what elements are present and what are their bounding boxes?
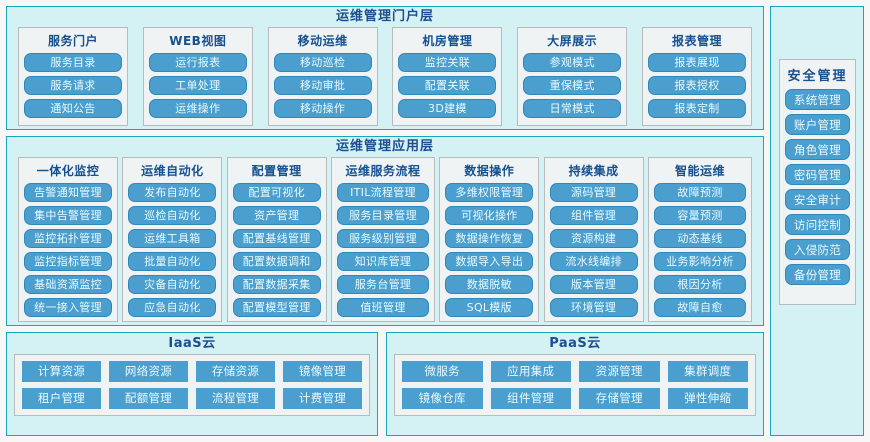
group-security-mgmt: 安全管理 系统管理 账户管理 角色管理 密码管理 安全审计 访问控制 入侵防范 … [779,59,856,305]
button-item[interactable]: 知识库管理 [337,252,429,271]
button-item[interactable]: 租户管理 [22,388,101,409]
button-item[interactable]: 集中告警管理 [24,206,112,225]
button-item[interactable]: ITIL流程管理 [337,183,429,202]
group-buttons: 移动巡检 移动审批 移动操作 [274,53,372,118]
button-item[interactable]: 资产管理 [233,206,321,225]
button-item[interactable]: 通知公告 [24,99,122,118]
button-item[interactable]: 计算资源 [22,361,101,382]
button-item[interactable]: 动态基线 [654,229,746,248]
button-item[interactable]: 流水线编排 [550,252,638,271]
group-title: 持续集成 [569,162,619,179]
button-item[interactable]: 配额管理 [109,388,188,409]
button-item[interactable]: 故障预测 [654,183,746,202]
button-item[interactable]: 服务目录 [24,53,122,72]
button-item[interactable]: 服务目录管理 [337,206,429,225]
button-item[interactable]: 配置关联 [398,76,496,95]
button-item[interactable]: 镜像管理 [283,361,362,382]
button-item[interactable]: 安全审计 [785,189,850,210]
button-item[interactable]: 镜像仓库 [402,388,483,409]
button-item[interactable]: 应急自动化 [128,298,216,317]
group-title: 运维自动化 [141,162,204,179]
button-item[interactable]: 监控指标管理 [24,252,112,271]
button-item[interactable]: 资源构建 [550,229,638,248]
group-mobile-ops: 移动运维 移动巡检 移动审批 移动操作 [268,27,378,126]
group-intelligent-ops: 智能运维 故障预测 容量预测 动态基线 业务影响分析 根因分析 故障自愈 [648,157,752,322]
button-item[interactable]: 版本管理 [550,275,638,294]
button-item[interactable]: 业务影响分析 [654,252,746,271]
button-item[interactable]: 应用集成 [491,361,572,382]
button-item[interactable]: 网络资源 [109,361,188,382]
button-item[interactable]: 监控关联 [398,53,496,72]
button-item[interactable]: 基础资源监控 [24,275,112,294]
layer-portal-title: 运维管理门户层 [7,7,763,27]
button-item[interactable]: 访问控制 [785,214,850,235]
button-item[interactable]: 入侵防范 [785,239,850,260]
group-integrated-monitoring: 一体化监控 告警通知管理 集中告警管理 监控拓扑管理 监控指标管理 基础资源监控… [18,157,118,322]
group-title: 大屏展示 [547,32,597,49]
button-item[interactable]: 工单处理 [149,76,247,95]
button-item[interactable]: 计费管理 [283,388,362,409]
button-item[interactable]: 集群调度 [668,361,749,382]
layer-application-title: 运维管理应用层 [7,137,763,157]
button-item[interactable]: 移动操作 [274,99,372,118]
group-continuous-integration: 持续集成 源码管理 组件管理 资源构建 流水线编排 版本管理 环境管理 [544,157,644,322]
group-title: 安全管理 [787,65,847,84]
group-service-portal: 服务门户 服务目录 服务请求 通知公告 [18,27,128,126]
group-data-operation: 数据操作 多维权限管理 可视化操作 数据操作恢复 数据导入导出 数据脱敏 SQL… [439,157,539,322]
button-item[interactable]: 流程管理 [196,388,275,409]
button-item[interactable]: 报表定制 [648,99,746,118]
button-item[interactable]: 监控拓扑管理 [24,229,112,248]
group-buttons: 源码管理 组件管理 资源构建 流水线编排 版本管理 环境管理 [550,183,638,317]
button-item[interactable]: 数据导入导出 [445,252,533,271]
button-item[interactable]: 账户管理 [785,114,850,135]
group-buttons: 监控关联 配置关联 3D建模 [398,53,496,118]
group-title: 智能运维 [675,162,725,179]
group-buttons: 告警通知管理 集中告警管理 监控拓扑管理 监控指标管理 基础资源监控 统一接入管… [24,183,112,317]
button-item[interactable]: 移动巡检 [274,53,372,72]
group-buttons: 运行报表 工单处理 运维操作 [149,53,247,118]
group-buttons: 服务目录 服务请求 通知公告 [24,53,122,118]
button-item[interactable]: 灾备自动化 [128,275,216,294]
button-item[interactable]: 日常模式 [523,99,621,118]
group-buttons: 参观模式 重保模式 日常模式 [523,53,621,118]
group-title: 一体化监控 [37,162,100,179]
group-title: 服务门户 [48,32,98,49]
group-buttons: 报表展现 报表授权 报表定制 [648,53,746,118]
button-item[interactable]: 配置数据采集 [233,275,321,294]
group-bigscreen-display: 大屏展示 参观模式 重保模式 日常模式 [517,27,627,126]
button-item[interactable]: 配置模型管理 [233,298,321,317]
group-title: WEB视图 [169,32,226,49]
button-item[interactable]: 移动审批 [274,76,372,95]
button-item[interactable]: SQL模版 [445,298,533,317]
group-title: 数据操作 [464,162,514,179]
button-item[interactable]: 角色管理 [785,139,850,160]
button-item[interactable]: 配置可视化 [233,183,321,202]
button-item[interactable]: 可视化操作 [445,206,533,225]
button-item[interactable]: 报表授权 [648,76,746,95]
button-item[interactable]: 发布自动化 [128,183,216,202]
button-item[interactable]: 存储资源 [196,361,275,382]
button-item[interactable]: 存储管理 [579,388,660,409]
button-item[interactable]: 备份管理 [785,264,850,285]
group-datacenter-mgmt: 机房管理 监控关联 配置关联 3D建模 [392,27,502,126]
layer-paas-cloud: PaaS云 微服务 应用集成 资源管理 集群调度 镜像仓库 组件管理 存储管理 … [386,332,764,436]
button-item[interactable]: 组件管理 [550,206,638,225]
layer-portal-groups: 服务门户 服务目录 服务请求 通知公告 WEB视图 运行报表 工单处理 运维操作… [7,27,763,127]
layer-iaas-cloud: IaaS云 计算资源 网络资源 存储资源 镜像管理 租户管理 配额管理 流程管理… [6,332,378,436]
group-buttons: 配置可视化 资产管理 配置基线管理 配置数据调和 配置数据采集 配置模型管理 [233,183,321,317]
button-item[interactable]: 数据操作恢复 [445,229,533,248]
group-config-mgmt: 配置管理 配置可视化 资产管理 配置基线管理 配置数据调和 配置数据采集 配置模… [227,157,327,322]
button-item[interactable]: 巡检自动化 [128,206,216,225]
button-item[interactable]: 微服务 [402,361,483,382]
button-item[interactable]: 故障自愈 [654,298,746,317]
group-title: 移动运维 [298,32,348,49]
button-item[interactable]: 服务级别管理 [337,229,429,248]
button-item[interactable]: 运行报表 [149,53,247,72]
button-item[interactable]: 值班管理 [337,298,429,317]
button-item[interactable]: 配置基线管理 [233,229,321,248]
button-item[interactable]: 配置数据调和 [233,252,321,271]
button-item[interactable]: 源码管理 [550,183,638,202]
button-item[interactable]: 数据脱敏 [445,275,533,294]
group-report-mgmt: 报表管理 报表展现 报表授权 报表定制 [642,27,752,126]
layer-iaas-title: IaaS云 [7,333,377,352]
button-item[interactable]: 3D建模 [398,99,496,118]
panel-security-management: 安全管理 系统管理 账户管理 角色管理 密码管理 安全审计 访问控制 入侵防范 … [770,6,864,436]
group-ops-service-process: 运维服务流程 ITIL流程管理 服务目录管理 服务级别管理 知识库管理 服务台管… [331,157,435,322]
button-item[interactable]: 报表展现 [648,53,746,72]
button-item[interactable]: 环境管理 [550,298,638,317]
layer-portal: 运维管理门户层 服务门户 服务目录 服务请求 通知公告 WEB视图 运行报表 工… [6,6,764,130]
layer-application-groups: 一体化监控 告警通知管理 集中告警管理 监控拓扑管理 监控指标管理 基础资源监控… [7,157,763,323]
iaas-button-grid: 计算资源 网络资源 存储资源 镜像管理 租户管理 配额管理 流程管理 计费管理 [14,354,370,416]
button-item[interactable]: 组件管理 [491,388,572,409]
architecture-diagram: 运维管理门户层 服务门户 服务目录 服务请求 通知公告 WEB视图 运行报表 工… [0,0,870,442]
group-title: 运维服务流程 [345,162,420,179]
group-buttons: 多维权限管理 可视化操作 数据操作恢复 数据导入导出 数据脱敏 SQL模版 [445,183,533,317]
button-item[interactable]: 参观模式 [523,53,621,72]
group-title: 机房管理 [422,32,472,49]
button-item[interactable]: 运维操作 [149,99,247,118]
button-item[interactable]: 批量自动化 [128,252,216,271]
layer-application: 运维管理应用层 一体化监控 告警通知管理 集中告警管理 监控拓扑管理 监控指标管… [6,136,764,326]
group-ops-automation: 运维自动化 发布自动化 巡检自动化 运维工具箱 批量自动化 灾备自动化 应急自动… [122,157,222,322]
group-buttons: 发布自动化 巡检自动化 运维工具箱 批量自动化 灾备自动化 应急自动化 [128,183,216,317]
group-buttons: 故障预测 容量预测 动态基线 业务影响分析 根因分析 故障自愈 [654,183,746,317]
button-item[interactable]: 容量预测 [654,206,746,225]
button-item[interactable]: 根因分析 [654,275,746,294]
button-item[interactable]: 密码管理 [785,164,850,185]
button-item[interactable]: 运维工具箱 [128,229,216,248]
button-item[interactable]: 资源管理 [579,361,660,382]
paas-button-grid: 微服务 应用集成 资源管理 集群调度 镜像仓库 组件管理 存储管理 弹性伸缩 [394,354,756,416]
button-item[interactable]: 系统管理 [785,89,850,110]
group-title: 报表管理 [672,32,722,49]
group-web-view: WEB视图 运行报表 工单处理 运维操作 [143,27,253,126]
button-item[interactable]: 弹性伸缩 [668,388,749,409]
group-buttons: ITIL流程管理 服务目录管理 服务级别管理 知识库管理 服务台管理 值班管理 [337,183,429,317]
button-item[interactable]: 统一接入管理 [24,298,112,317]
button-item[interactable]: 告警通知管理 [24,183,112,202]
group-title: 配置管理 [252,162,302,179]
button-item[interactable]: 服务台管理 [337,275,429,294]
button-item[interactable]: 服务请求 [24,76,122,95]
layer-paas-title: PaaS云 [387,333,763,352]
group-buttons: 系统管理 账户管理 角色管理 密码管理 安全审计 访问控制 入侵防范 备份管理 [785,89,850,285]
button-item[interactable]: 多维权限管理 [445,183,533,202]
button-item[interactable]: 重保模式 [523,76,621,95]
